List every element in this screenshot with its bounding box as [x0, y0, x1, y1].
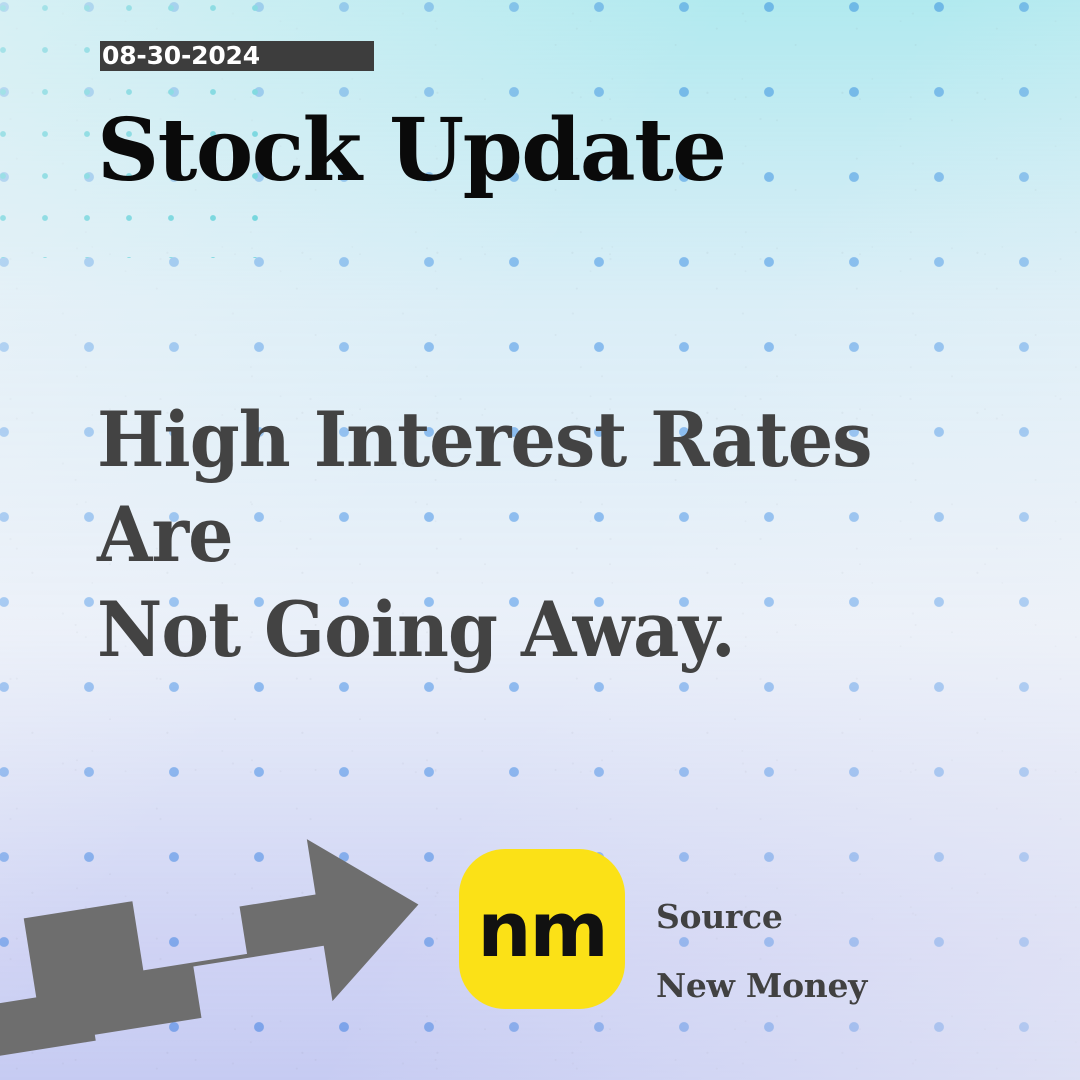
headline-line-2: Not Going Away.: [97, 582, 962, 677]
logo-mark-text: nm: [477, 892, 606, 968]
stock-update-poster: 08-30-2024 Stock Update High Interest Ra…: [0, 0, 1080, 1080]
zigzag-trend-arrow-icon: [0, 818, 470, 1068]
source-attribution: Source New Money: [656, 856, 867, 1002]
footer-brand: nm Source New Money: [459, 849, 867, 1009]
page-headline: High Interest Rates Are Not Going Away.: [97, 392, 962, 677]
date-badge: 08-30-2024: [100, 41, 374, 71]
source-name: New Money: [656, 969, 867, 1002]
headline-line-1: High Interest Rates Are: [97, 392, 962, 582]
page-kicker: Stock Update: [97, 104, 726, 198]
new-money-logo-icon: nm: [459, 849, 625, 1009]
source-label: Source: [656, 900, 867, 933]
